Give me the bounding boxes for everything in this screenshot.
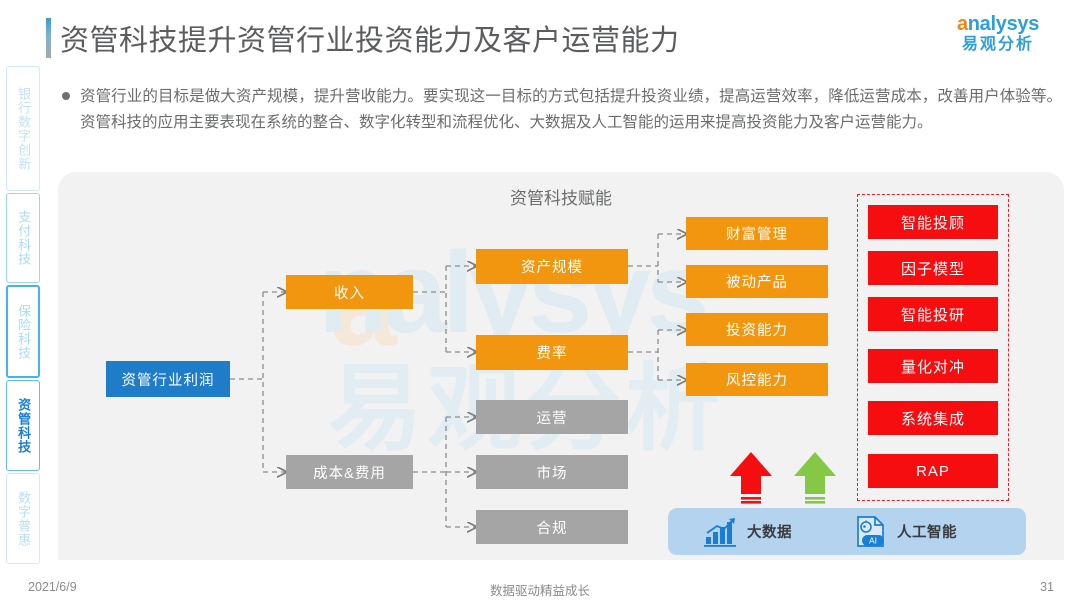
- capability-ai[interactable]: AI 人工智能: [854, 515, 957, 549]
- node-factor-model[interactable]: 因子模型: [868, 251, 998, 285]
- bullet-dot-icon: [62, 92, 70, 100]
- node-rap[interactable]: RAP: [868, 454, 998, 488]
- sidebar-item-digital-inclusive-finance[interactable]: 数字普惠: [6, 473, 40, 564]
- sidebar-item-insurance-tech[interactable]: 保险科技: [6, 285, 40, 378]
- node-smart-research[interactable]: 智能投研: [868, 297, 998, 331]
- node-passive-products[interactable]: 被动产品: [686, 265, 828, 298]
- sidebar-item-payment-tech[interactable]: 支付科技: [6, 193, 40, 283]
- capability-big-data-label: 大数据: [747, 521, 792, 542]
- logo-word-rest: nalysys: [968, 13, 1039, 35]
- footer-page-number: 31: [1040, 580, 1054, 594]
- bullet-paragraph-text: 资管行业的目标是做大资产规模，提升营收能力。要实现这一目标的方式包括提升投资业绩…: [80, 84, 1062, 136]
- node-investment-capability[interactable]: 投资能力: [686, 313, 828, 346]
- analysys-logo: analysys 易观分析: [938, 14, 1058, 53]
- bar-chart-icon: [704, 517, 738, 547]
- node-compliance[interactable]: 合规: [476, 510, 628, 544]
- node-robo-advisory[interactable]: 智能投顾: [868, 205, 998, 239]
- capability-big-data[interactable]: 大数据: [704, 517, 792, 547]
- ai-document-icon: AI: [854, 515, 888, 549]
- node-quantitative-hedging[interactable]: 量化对冲: [868, 349, 998, 383]
- node-cost-and-expense[interactable]: 成本&费用: [286, 455, 413, 489]
- footer-slogan: 数据驱动精益成长: [0, 580, 1080, 599]
- node-asset-scale[interactable]: 资产规模: [476, 249, 628, 284]
- node-revenue[interactable]: 收入: [286, 275, 413, 309]
- green-up-arrow-icon: [791, 450, 839, 506]
- node-fee-rate[interactable]: 费率: [476, 335, 628, 370]
- node-wealth-management[interactable]: 财富管理: [686, 217, 828, 250]
- diagram-title: 资管科技赋能: [58, 184, 1064, 209]
- node-operations[interactable]: 运营: [476, 400, 628, 434]
- node-market[interactable]: 市场: [476, 455, 628, 489]
- capability-bar: 大数据 AI 人工智能: [668, 508, 1026, 555]
- node-asset-management-profit[interactable]: 资管行业利润: [106, 361, 230, 397]
- node-risk-control-capability[interactable]: 风控能力: [686, 363, 828, 396]
- sidebar-item-asset-management-tech[interactable]: 资管科技: [6, 380, 40, 471]
- svg-text:AI: AI: [869, 535, 877, 545]
- bullet-paragraph-row: 资管行业的目标是做大资产规模，提升营收能力。要实现这一目标的方式包括提升投资业绩…: [62, 84, 1062, 136]
- page-title: 资管科技提升资管行业投资能力及客户运营能力: [60, 17, 680, 59]
- red-up-arrow-icon: [727, 450, 775, 506]
- logo-wordmark: analysys: [938, 14, 1058, 34]
- logo-chinese-name: 易观分析: [938, 37, 1058, 53]
- footer: 2021/6/9 数据驱动精益成长 31: [0, 580, 1080, 600]
- sidebar-rail: 银行数字创新 支付科技 保险科技 资管科技 数字普惠: [6, 66, 40, 564]
- title-accent-bar: [46, 18, 51, 58]
- node-system-integration[interactable]: 系统集成: [868, 401, 998, 435]
- diagram-card: a nalysys 易观分析 资管科技赋能: [58, 172, 1064, 560]
- sidebar-item-bank-digital-innovation[interactable]: 银行数字创新: [6, 66, 40, 191]
- capability-ai-label: 人工智能: [897, 521, 957, 542]
- logo-letter-a: a: [957, 13, 968, 35]
